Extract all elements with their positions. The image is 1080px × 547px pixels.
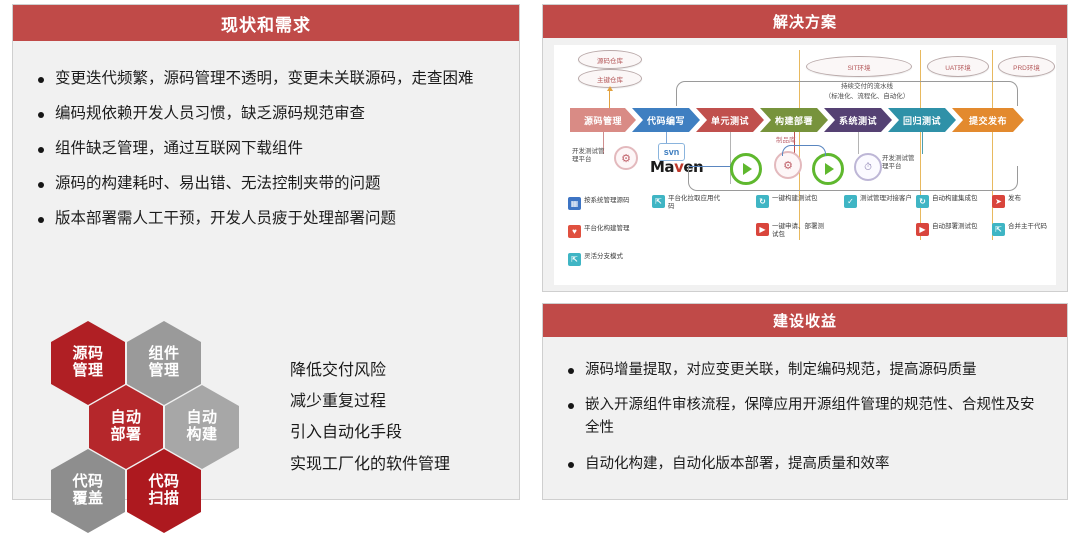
- value-proposition-list: 降低交付风险 减少重复过程 引入自动化手段 实现工厂化的软件管理: [290, 355, 520, 480]
- feedback-loop: [688, 166, 1018, 191]
- list-item: 源码增量提取，对应变更关联，制定编码规范，提高源码质量: [565, 359, 1043, 382]
- legend-label: 灵活分支模式: [584, 253, 623, 261]
- panel-current-status-body: 变更迭代频繁，源码管理不透明，变更未关联源码，走查困难 编码规依赖开发人员习惯，…: [13, 67, 519, 525]
- ellipse-sit-env: SIT环境: [806, 56, 912, 77]
- grid-icon: ▦: [568, 197, 581, 210]
- hexagon-label-line2: 覆盖: [72, 491, 103, 508]
- legend-label: 测试管理对接客户: [860, 195, 912, 203]
- legend-item-apply-deploy: ▶ 一键申请、部署测试包: [756, 223, 826, 240]
- pipeline-caption-line2: （标准化、流程化、自动化）: [804, 93, 930, 101]
- pipeline-caption-line1: 持续交付的流水线: [807, 83, 927, 91]
- panel-benefit-body: 源码增量提取，对应变更关联，制定编码规范，提高源码质量 嵌入开源组件审核流程，保…: [543, 359, 1067, 521]
- hexagon-label-line2: 管理: [72, 363, 103, 380]
- panel-solution-body: 源码仓库 主键仓库 SIT环境 UAT环境 PRD环境 持续交付的流水线 （标准…: [543, 38, 1067, 291]
- legend-item-branch-mode: ⇱ 灵活分支模式: [568, 253, 623, 266]
- legend-item-build-test-pack: ↻ 一键构建测试包: [756, 195, 818, 208]
- ellipse-prd-env: PRD环境: [998, 56, 1055, 77]
- hexagon-label-line2: 部署: [110, 427, 141, 444]
- value-item: 降低交付风险: [290, 355, 520, 386]
- list-item: 编码规依赖开发人员习惯，缺乏源码规范审查: [35, 102, 495, 126]
- rail-uat: [920, 50, 921, 240]
- legend-label: 自动构建集成包: [932, 195, 978, 203]
- auto-deploy-icon: ▶: [916, 223, 929, 236]
- hexagon-label-line2: 扫描: [148, 491, 179, 508]
- list-item: 组件缺乏管理，通过互联网下载组件: [35, 137, 495, 161]
- list-item: 版本部署需人工干预，开发人员疲于处理部署问题: [35, 207, 495, 231]
- stage-submit-release: 提交发布: [952, 108, 1024, 132]
- list-item: 源码的构建耗时、易出错、无法控制夹带的问题: [35, 172, 495, 196]
- slide-root: 现状和需求 变更迭代频繁，源码管理不透明，变更未关联源码，走查困难 编码规依赖开…: [0, 0, 1080, 503]
- value-item: 减少重复过程: [290, 386, 520, 417]
- legend-label: 发布: [1008, 195, 1021, 203]
- legend-label: 自动部署测试包: [932, 223, 978, 231]
- hexagon-label-line1: 代码: [72, 474, 103, 491]
- drop-line-6: [922, 132, 923, 154]
- legend-label: 一键构建测试包: [772, 195, 818, 203]
- gear-icon: ⚙: [614, 146, 638, 170]
- hexagon-label-line1: 代码: [148, 474, 179, 491]
- hexagon-label-line2: 构建: [186, 427, 217, 444]
- cicd-pipeline-diagram: 源码仓库 主键仓库 SIT环境 UAT环境 PRD环境 持续交付的流水线 （标准…: [554, 45, 1056, 285]
- stage-source-management: 源码管理: [570, 108, 636, 132]
- legend-item-manage-source: ▦ 按系统管理源码: [568, 197, 630, 210]
- legend-label: 合并主干代码: [1008, 223, 1047, 231]
- label-dev-test-platform-left: 开发测试管理平台: [572, 148, 605, 164]
- build-manage-icon: ♥: [568, 225, 581, 238]
- legend-label: 平台化构建管理: [584, 225, 630, 233]
- legend-item-test-manage: ✓ 测试管理对接客户: [844, 195, 912, 208]
- hexagon-cluster: 源码 管理 组件 管理 自动 部署 自动 构建 代码 覆盖: [47, 315, 277, 547]
- branch-icon: ⇱: [652, 195, 665, 208]
- current-status-bullet-list: 变更迭代频繁，源码管理不透明，变更未关联源码，走查困难 编码规依赖开发人员习惯，…: [35, 67, 495, 231]
- legend-item-auto-integrate: ↻ 自动构建集成包: [916, 195, 978, 208]
- hexagon-label-line2: 管理: [148, 363, 179, 380]
- panel-solution: 解决方案 源码仓库 主键仓库 SIT环境 UAT环境 PRD环境 持续交付的流水…: [542, 4, 1068, 292]
- legend-label: 按系统管理源码: [584, 197, 630, 205]
- publish-icon: ➤: [992, 195, 1005, 208]
- legend-label: 一键申请、部署测试包: [772, 223, 826, 240]
- stage-build-deploy: 构建部署: [760, 108, 828, 132]
- legend-label: 平台化拉取应用代码: [668, 195, 722, 212]
- branch-mode-icon: ⇱: [568, 253, 581, 266]
- panel-current-status-title: 现状和需求: [13, 5, 519, 41]
- panel-current-status: 现状和需求 变更迭代频繁，源码管理不透明，变更未关联源码，走查困难 编码规依赖开…: [12, 4, 520, 500]
- deploy-icon: ▶: [756, 223, 769, 236]
- arrow-up-icon: [609, 90, 610, 110]
- artifact-arc: [782, 145, 826, 156]
- list-item: 嵌入开源组件审核流程，保障应用开源组件管理的规范性、合规性及安全性: [565, 394, 1043, 440]
- label-artifact-repo: 制品库: [776, 137, 796, 145]
- legend-item-build-manage: ♥ 平台化构建管理: [568, 225, 630, 238]
- hexagon-label-line1: 自动: [186, 410, 217, 427]
- list-item: 自动化构建，自动化版本部署，提高质量和效率: [565, 453, 1043, 476]
- legend-item-pull-code: ⇱ 平台化拉取应用代码: [652, 195, 722, 212]
- stage-system-test: 系统测试: [824, 108, 892, 132]
- hexagon-label-line1: 组件: [148, 346, 179, 363]
- panel-benefit-title: 建设收益: [543, 304, 1067, 337]
- ellipse-uat-env: UAT环境: [927, 56, 989, 77]
- benefit-bullet-list: 源码增量提取，对应变更关联，制定编码规范，提高源码质量 嵌入开源组件审核流程，保…: [565, 359, 1043, 476]
- ellipse-source-repo: 源码仓库: [578, 50, 642, 69]
- legend-item-merge-trunk: ⇱ 合并主干代码: [992, 223, 1047, 236]
- value-item: 实现工厂化的软件管理: [290, 449, 520, 480]
- rail-prd: [992, 50, 993, 240]
- legend-item-auto-deploy: ▶ 自动部署测试包: [916, 223, 978, 236]
- stage-regression-test: 回归测试: [888, 108, 956, 132]
- hexagon-label-line1: 自动: [110, 410, 141, 427]
- test-pack-icon: ↻: [756, 195, 769, 208]
- stage-unit-test: 单元测试: [696, 108, 764, 132]
- drop-line-5: [858, 132, 859, 154]
- list-item: 变更迭代频繁，源码管理不透明，变更未关联源码，走查困难: [35, 67, 495, 91]
- merge-icon: ⇱: [992, 223, 1005, 236]
- auto-integrate-icon: ↻: [916, 195, 929, 208]
- panel-solution-title: 解决方案: [543, 5, 1067, 38]
- stage-code-writing: 代码编写: [632, 108, 700, 132]
- hexagon-label-line1: 源码: [72, 346, 103, 363]
- value-item: 引入自动化手段: [290, 417, 520, 448]
- test-manage-icon: ✓: [844, 195, 857, 208]
- legend-item-publish: ➤ 发布: [992, 195, 1021, 208]
- panel-benefit: 建设收益 源码增量提取，对应变更关联，制定编码规范，提高源码质量 嵌入开源组件审…: [542, 303, 1068, 500]
